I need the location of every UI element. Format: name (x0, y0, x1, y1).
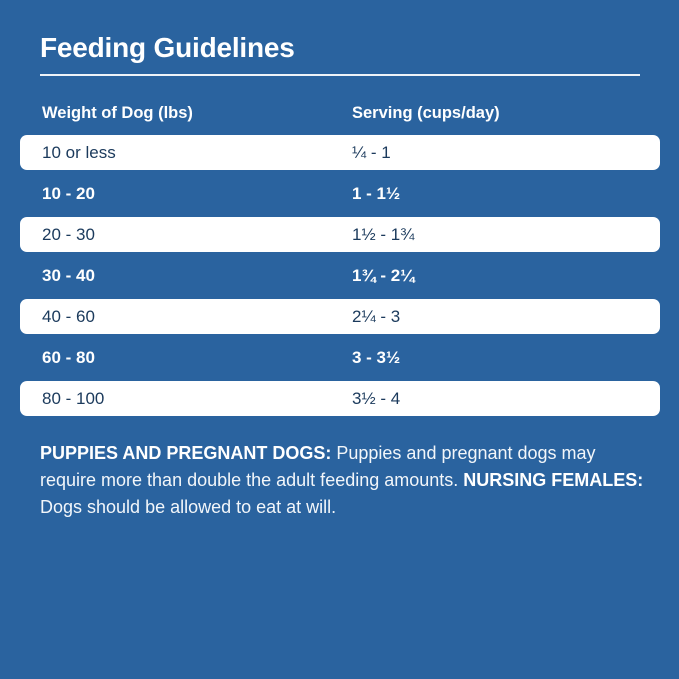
cell-weight: 30 - 40 (42, 258, 95, 293)
cell-weight: 10 or less (42, 135, 116, 170)
table-row: 60 - 80 3 - 3½ (20, 340, 660, 375)
cell-serving: 1¾ - 2¼ (352, 258, 414, 293)
feeding-guidelines-panel: Feeding Guidelines Weight of Dog (lbs) S… (0, 0, 679, 679)
cell-serving: 1 - 1½ (352, 176, 400, 211)
table-row: 40 - 60 2¼ - 3 (20, 299, 660, 334)
cell-serving: 3½ - 4 (352, 381, 400, 416)
column-header-weight: Weight of Dog (lbs) (42, 102, 193, 124)
cell-weight: 10 - 20 (42, 176, 95, 211)
table-row: 30 - 40 1¾ - 2¼ (20, 258, 660, 293)
column-header-serving: Serving (cups/day) (352, 102, 500, 124)
cell-serving: 3 - 3½ (352, 340, 400, 375)
title-divider (40, 74, 640, 76)
cell-weight: 40 - 60 (42, 299, 95, 334)
feeding-footnote: PUPPIES AND PREGNANT DOGS: Puppies and p… (40, 440, 645, 521)
cell-weight: 80 - 100 (42, 381, 104, 416)
table-column-headers: Weight of Dog (lbs) Serving (cups/day) (0, 102, 679, 124)
footnote-label-puppies: PUPPIES AND PREGNANT DOGS: (40, 443, 331, 463)
footnote-label-nursing: NURSING FEMALES: (463, 470, 643, 490)
cell-serving: ¼ - 1 (352, 135, 391, 170)
table-row: 80 - 100 3½ - 4 (20, 381, 660, 416)
cell-weight: 60 - 80 (42, 340, 95, 375)
footnote-text-nursing: Dogs should be allowed to eat at will. (40, 497, 336, 517)
cell-serving: 2¼ - 3 (352, 299, 400, 334)
table-row: 10 or less ¼ - 1 (20, 135, 660, 170)
table-row: 20 - 30 1½ - 1¾ (20, 217, 660, 252)
cell-weight: 20 - 30 (42, 217, 95, 252)
feeding-table: 10 or less ¼ - 1 10 - 20 1 - 1½ 20 - 30 … (20, 135, 660, 422)
table-row: 10 - 20 1 - 1½ (20, 176, 660, 211)
page-title: Feeding Guidelines (40, 31, 295, 65)
cell-serving: 1½ - 1¾ (352, 217, 414, 252)
